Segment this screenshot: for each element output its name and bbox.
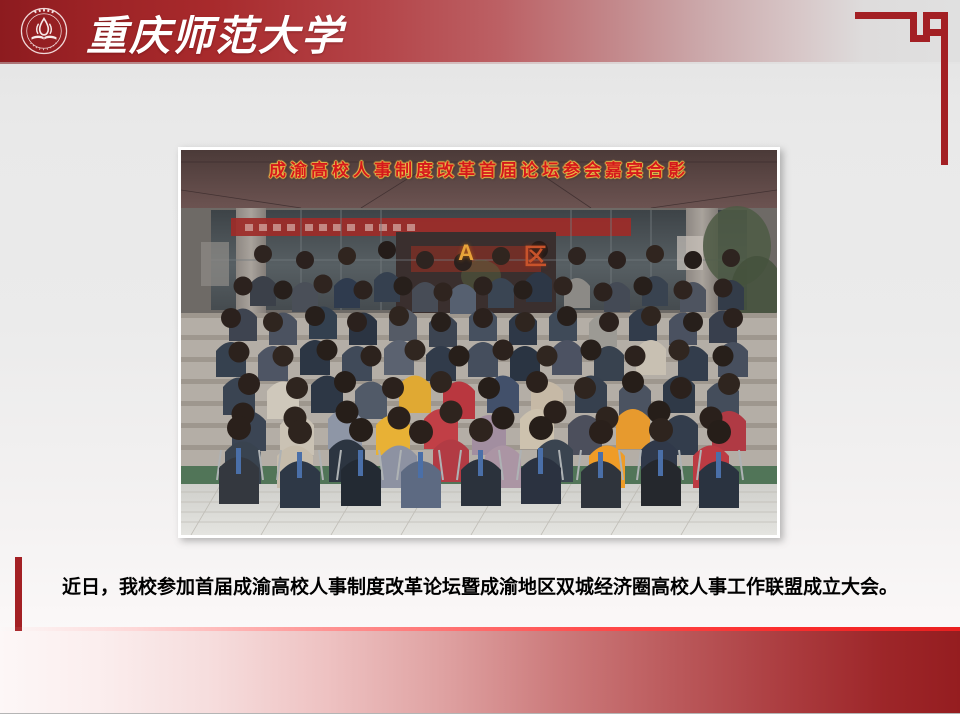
building-sign-letter: A <box>458 240 474 266</box>
university-wordmark: 重庆师范大学 <box>86 6 344 58</box>
footer-band <box>0 631 960 714</box>
group-photo: 成渝高校人事制度改革首届论坛参会嘉宾合影 A 区 <box>181 150 777 535</box>
meander-corner-ornament-top-right <box>855 8 953 168</box>
slide-caption: 近日，我校参加首届成渝高校人事制度改革论坛暨成渝地区双城经济圈高校人事工作联盟成… <box>0 572 960 599</box>
header-underline <box>0 62 960 64</box>
university-seal-icon <box>20 7 68 55</box>
presentation-slide: 重庆师范大学 <box>0 0 960 720</box>
photo-banner-title: 成渝高校人事制度改革首届论坛参会嘉宾合影 <box>181 156 777 181</box>
building-sign-character: 区 <box>524 237 547 271</box>
group-photo-frame: 成渝高校人事制度改革首届论坛参会嘉宾合影 A 区 <box>178 147 780 538</box>
slide-bottom-edge <box>0 714 960 720</box>
